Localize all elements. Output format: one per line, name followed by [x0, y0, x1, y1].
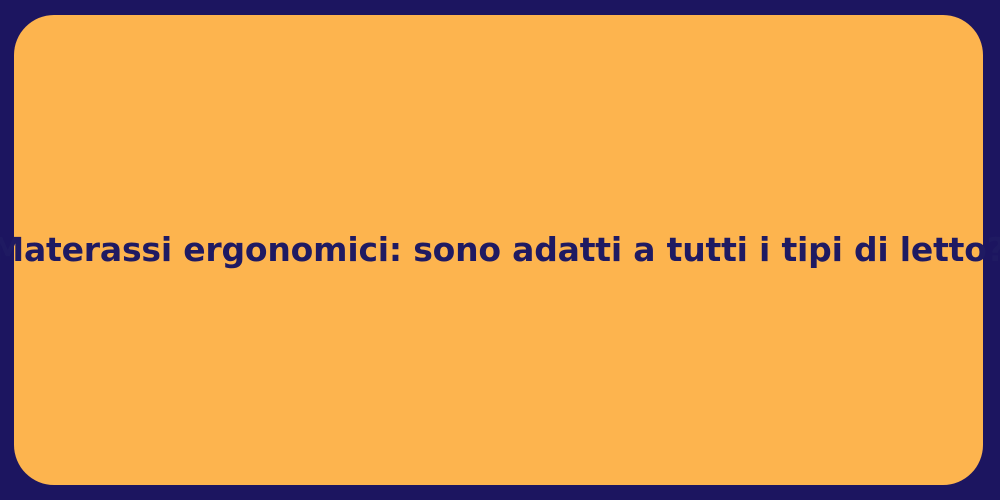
banner-card: Materassi ergonomici: sono adatti a tutt…: [0, 0, 1000, 500]
page-title: Materassi ergonomici: sono adatti a tutt…: [0, 229, 1000, 270]
banner-panel: Materassi ergonomici: sono adatti a tutt…: [14, 15, 983, 485]
